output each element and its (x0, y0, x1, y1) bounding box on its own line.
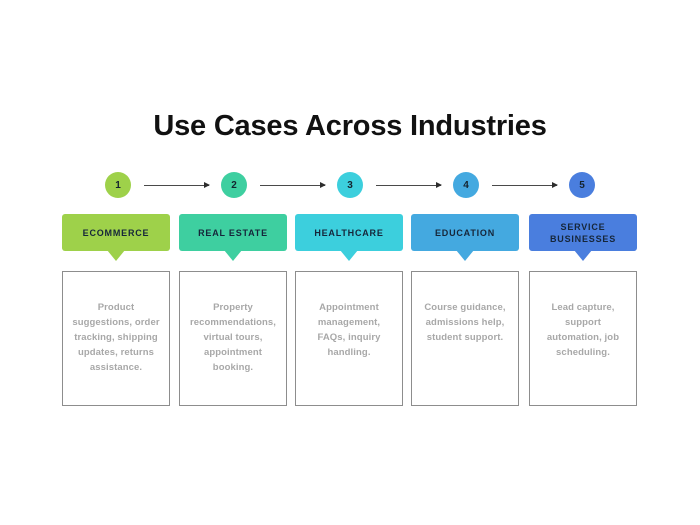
label-bar-education[interactable]: EDUCATION (411, 214, 519, 251)
arrow-shaft (492, 185, 557, 187)
description-card-real-estate: Property recommendations, virtual tours,… (179, 271, 287, 406)
arrow-shaft (260, 185, 325, 187)
step-circle-4[interactable]: 4 (453, 172, 479, 198)
label-bar-text-service-businesses: SERVICE BUSINESSES (529, 221, 637, 245)
description-card-ecommerce: Product suggestions, order tracking, shi… (62, 271, 170, 406)
description-card-education: Course guidance, admissions help, studen… (411, 271, 519, 406)
label-bar-service-businesses[interactable]: SERVICE BUSINESSES (529, 214, 637, 251)
label-bar-pointer-icon (456, 250, 474, 261)
label-bar-text-ecommerce: ECOMMERCE (77, 227, 156, 239)
description-card-healthcare: Appointment management, FAQs, inquiry ha… (295, 271, 403, 406)
arrow-head (204, 182, 210, 188)
step-number-5: 5 (579, 180, 585, 191)
step-circle-3[interactable]: 3 (337, 172, 363, 198)
label-bar-pointer-icon (107, 250, 125, 261)
arrow-shaft (144, 185, 209, 187)
step-number-1: 1 (115, 180, 121, 191)
description-text-real-estate: Property recommendations, virtual tours,… (189, 300, 277, 375)
description-text-education: Course guidance, admissions help, studen… (421, 300, 509, 345)
arrow-2-to-3-icon (260, 184, 325, 186)
step-circle-5[interactable]: 5 (569, 172, 595, 198)
label-bar-text-healthcare: HEALTHCARE (308, 227, 389, 239)
arrow-1-to-2-icon (144, 184, 209, 186)
label-bar-text-education: EDUCATION (429, 227, 501, 239)
label-bar-pointer-icon (574, 250, 592, 261)
arrow-4-to-5-icon (492, 184, 557, 186)
arrow-shaft (376, 185, 441, 187)
step-number-3: 3 (347, 180, 353, 191)
description-text-ecommerce: Product suggestions, order tracking, shi… (72, 300, 160, 375)
arrow-3-to-4-icon (376, 184, 441, 186)
description-text-service-businesses: Lead capture, support automation, job sc… (539, 300, 627, 360)
step-number-4: 4 (463, 180, 469, 191)
arrow-head (552, 182, 558, 188)
label-bar-ecommerce[interactable]: ECOMMERCE (62, 214, 170, 251)
infographic-canvas: Use Cases Across Industries 1 2 3 4 5 (0, 0, 700, 525)
label-bar-text-real-estate: REAL ESTATE (192, 227, 274, 239)
step-circle-1[interactable]: 1 (105, 172, 131, 198)
label-bar-healthcare[interactable]: HEALTHCARE (295, 214, 403, 251)
arrow-head (436, 182, 442, 188)
label-bar-pointer-icon (340, 250, 358, 261)
arrow-head (320, 182, 326, 188)
step-number-2: 2 (231, 180, 237, 191)
label-bar-pointer-icon (224, 250, 242, 261)
description-card-service-businesses: Lead capture, support automation, job sc… (529, 271, 637, 406)
label-bar-real-estate[interactable]: REAL ESTATE (179, 214, 287, 251)
step-indicator-row: 1 2 3 4 5 (62, 172, 638, 200)
description-text-healthcare: Appointment management, FAQs, inquiry ha… (305, 300, 393, 360)
page-title: Use Cases Across Industries (0, 107, 700, 145)
step-circle-2[interactable]: 2 (221, 172, 247, 198)
